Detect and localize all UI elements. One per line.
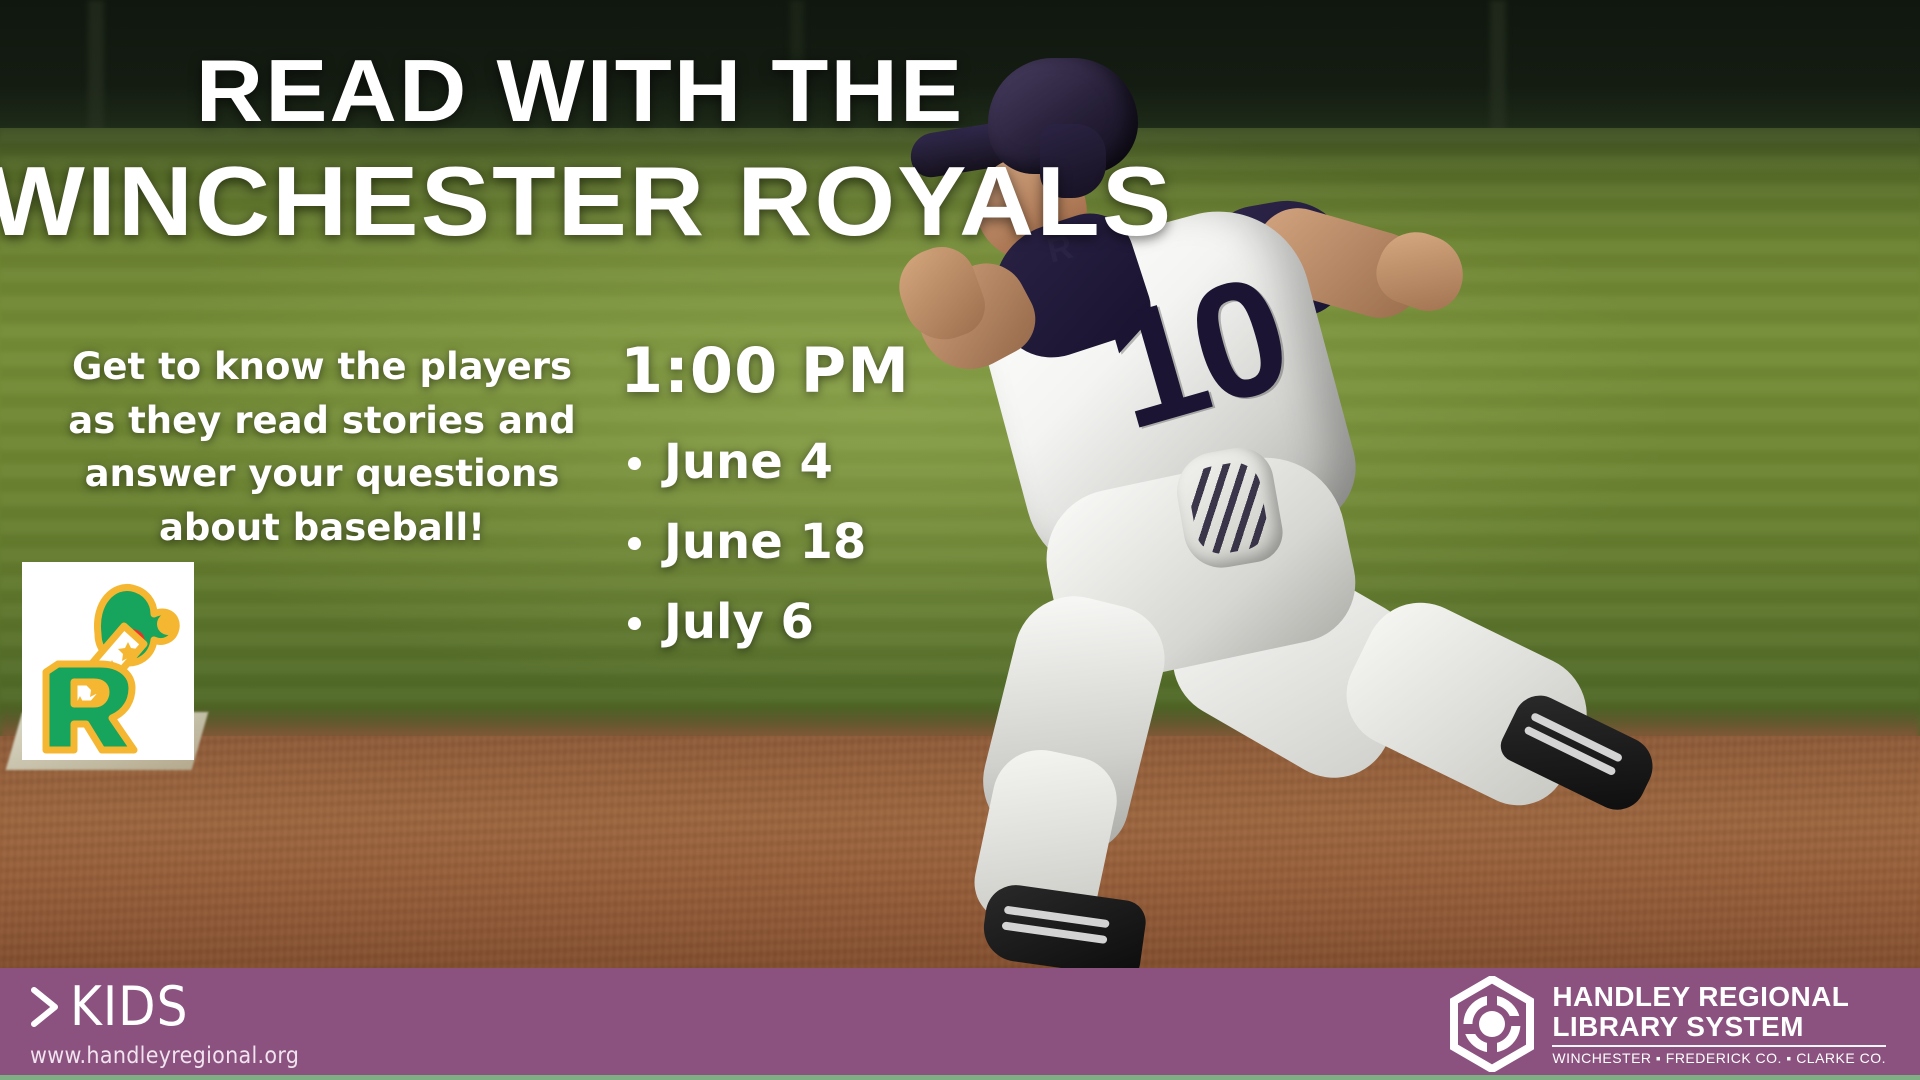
handley-regional-library-logo: HANDLEY REGIONAL LIBRARY SYSTEM WINCHEST… [1448, 976, 1886, 1072]
library-name-line-2: LIBRARY SYSTEM [1552, 1012, 1886, 1041]
footer-bar: KIDS www.handleyregional.org HANDLEY REG… [0, 968, 1920, 1080]
event-schedule: 1:00 PM June 4 June 18 July 6 [620, 340, 1000, 678]
royals-logo-art [28, 568, 188, 754]
headline-line-2: WINCHESTER ROYALS [0, 152, 1195, 252]
chevron-right-icon [28, 985, 62, 1029]
event-description: Get to know the players as they read sto… [52, 340, 592, 555]
event-time: 1:00 PM [620, 340, 1000, 402]
kids-branding: KIDS www.handleyregional.org [28, 980, 299, 1069]
list-item: June 4 [620, 438, 1000, 486]
list-item: July 6 [620, 598, 1000, 646]
headline-line-1: READ WITH THE [0, 46, 1195, 136]
event-flyer: R 10 READ WITH THE WINCHESTER ROYALS Get… [0, 0, 1920, 1080]
library-name-line-1: HANDLEY REGIONAL [1552, 982, 1886, 1011]
library-name-block: HANDLEY REGIONAL LIBRARY SYSTEM WINCHEST… [1552, 982, 1886, 1065]
list-item: June 18 [620, 518, 1000, 566]
event-date-list: June 4 June 18 July 6 [620, 438, 1000, 646]
library-locations: WINCHESTER ▪ FREDERICK CO. ▪ CLARKE CO. [1552, 1050, 1886, 1066]
hexagon-library-icon [1448, 976, 1536, 1072]
library-website-url[interactable]: www.handleyregional.org [30, 1043, 299, 1069]
divider [1552, 1045, 1886, 1047]
kids-row: KIDS [28, 980, 299, 1034]
flyer-content: READ WITH THE WINCHESTER ROYALS Get to k… [0, 0, 1920, 1080]
winchester-royals-logo [22, 562, 194, 760]
kids-label: KIDS [70, 980, 188, 1034]
page-title: READ WITH THE WINCHESTER ROYALS [0, 46, 1195, 252]
